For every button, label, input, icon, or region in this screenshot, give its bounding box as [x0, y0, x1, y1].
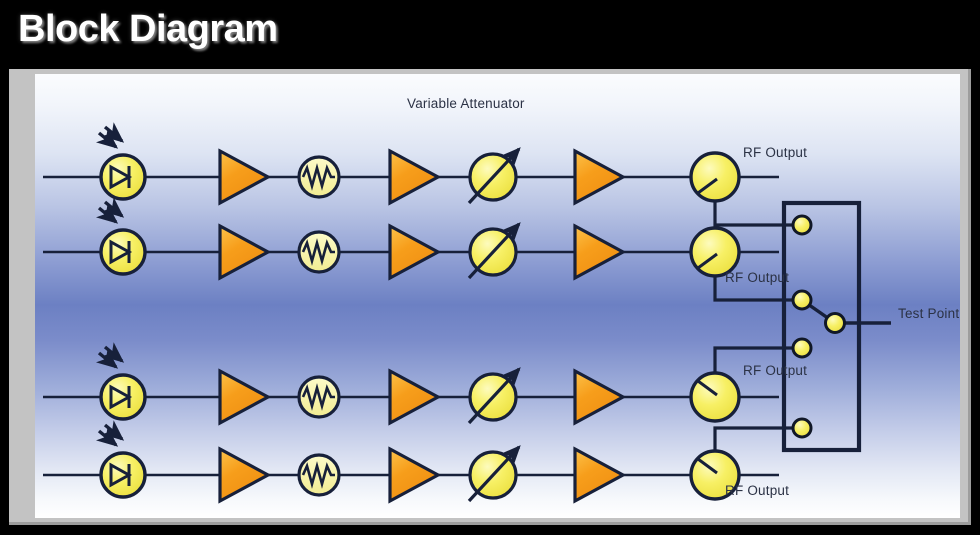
switch-terminal-1[interactable]: [793, 216, 811, 234]
coupler-body: [691, 153, 739, 201]
channel-row-1: [43, 127, 802, 225]
filter-channel-4[interactable]: [299, 455, 339, 495]
variable-attenuator-channel-4[interactable]: [469, 447, 519, 501]
switch-terminal-3[interactable]: [793, 339, 811, 357]
switch-box[interactable]: [784, 203, 859, 450]
diagram-frame: Variable Attenuator RF Output RF Output …: [9, 69, 971, 525]
photodiode-body: [101, 155, 145, 199]
switch-terminal-4[interactable]: [793, 419, 811, 437]
block-diagram-svg: [35, 74, 960, 518]
screenshot-root: Block Diagram: [0, 0, 980, 535]
amplifier-amplifier-1-channel-3[interactable]: [220, 371, 268, 423]
variable-attenuator-channel-3[interactable]: [469, 369, 519, 423]
rf-output-label-channel-4: RF Output: [725, 483, 789, 498]
amplifier-amplifier-1-channel-4[interactable]: [220, 449, 268, 501]
coupler-channel-2[interactable]: [691, 228, 739, 276]
variable-attenuator-label: Variable Attenuator: [407, 96, 525, 111]
channel-row-2: [43, 202, 802, 300]
amplifier-amplifier-2-channel-1[interactable]: [390, 151, 438, 203]
rf-output-label-channel-3: RF Output: [743, 363, 807, 378]
photodiode-body: [101, 375, 145, 419]
photodiode-channel-1[interactable]: [99, 127, 145, 199]
variable-attenuator-channel-2[interactable]: [469, 224, 519, 278]
channel-row-3: [43, 347, 802, 423]
filter-channel-2[interactable]: [299, 232, 339, 272]
switch-terminal-2[interactable]: [793, 291, 811, 309]
amplifier-amplifier-2-channel-2[interactable]: [390, 226, 438, 278]
photodiode-body: [101, 453, 145, 497]
photodiode-channel-3[interactable]: [99, 347, 145, 419]
coupler-body: [691, 228, 739, 276]
block-diagram-canvas: Variable Attenuator RF Output RF Output …: [35, 74, 960, 518]
amplifier-amplifier-2-channel-4[interactable]: [390, 449, 438, 501]
rf-output-label-channel-2: RF Output: [725, 270, 789, 285]
photodiode-body: [101, 230, 145, 274]
page-title: Block Diagram: [18, 8, 278, 51]
amplifier-amplifier-3-channel-2[interactable]: [575, 226, 623, 278]
filter-channel-1[interactable]: [299, 157, 339, 197]
amplifier-amplifier-3-channel-1[interactable]: [575, 151, 623, 203]
amplifier-amplifier-1-channel-1[interactable]: [220, 151, 268, 203]
amplifier-amplifier-3-channel-4[interactable]: [575, 449, 623, 501]
amplifier-amplifier-3-channel-3[interactable]: [575, 371, 623, 423]
coupler-body: [691, 373, 739, 421]
filter-channel-3[interactable]: [299, 377, 339, 417]
amplifier-amplifier-1-channel-2[interactable]: [220, 226, 268, 278]
title-banner: Block Diagram: [0, 0, 980, 66]
switch-common-pole[interactable]: [826, 314, 845, 333]
coupler-channel-3[interactable]: [691, 373, 739, 421]
variable-attenuator-channel-1[interactable]: [469, 149, 519, 203]
photodiode-channel-2[interactable]: [99, 202, 145, 274]
amplifier-amplifier-2-channel-3[interactable]: [390, 371, 438, 423]
rf-output-label-channel-1: RF Output: [743, 145, 807, 160]
coupler-channel-1[interactable]: [691, 153, 739, 201]
switch-tap-channel-4: [715, 428, 802, 451]
photodiode-channel-4[interactable]: [99, 425, 145, 497]
rf-switch: [784, 203, 891, 450]
channel-row-4: [43, 425, 802, 501]
test-point-label: Test Point: [898, 306, 959, 321]
